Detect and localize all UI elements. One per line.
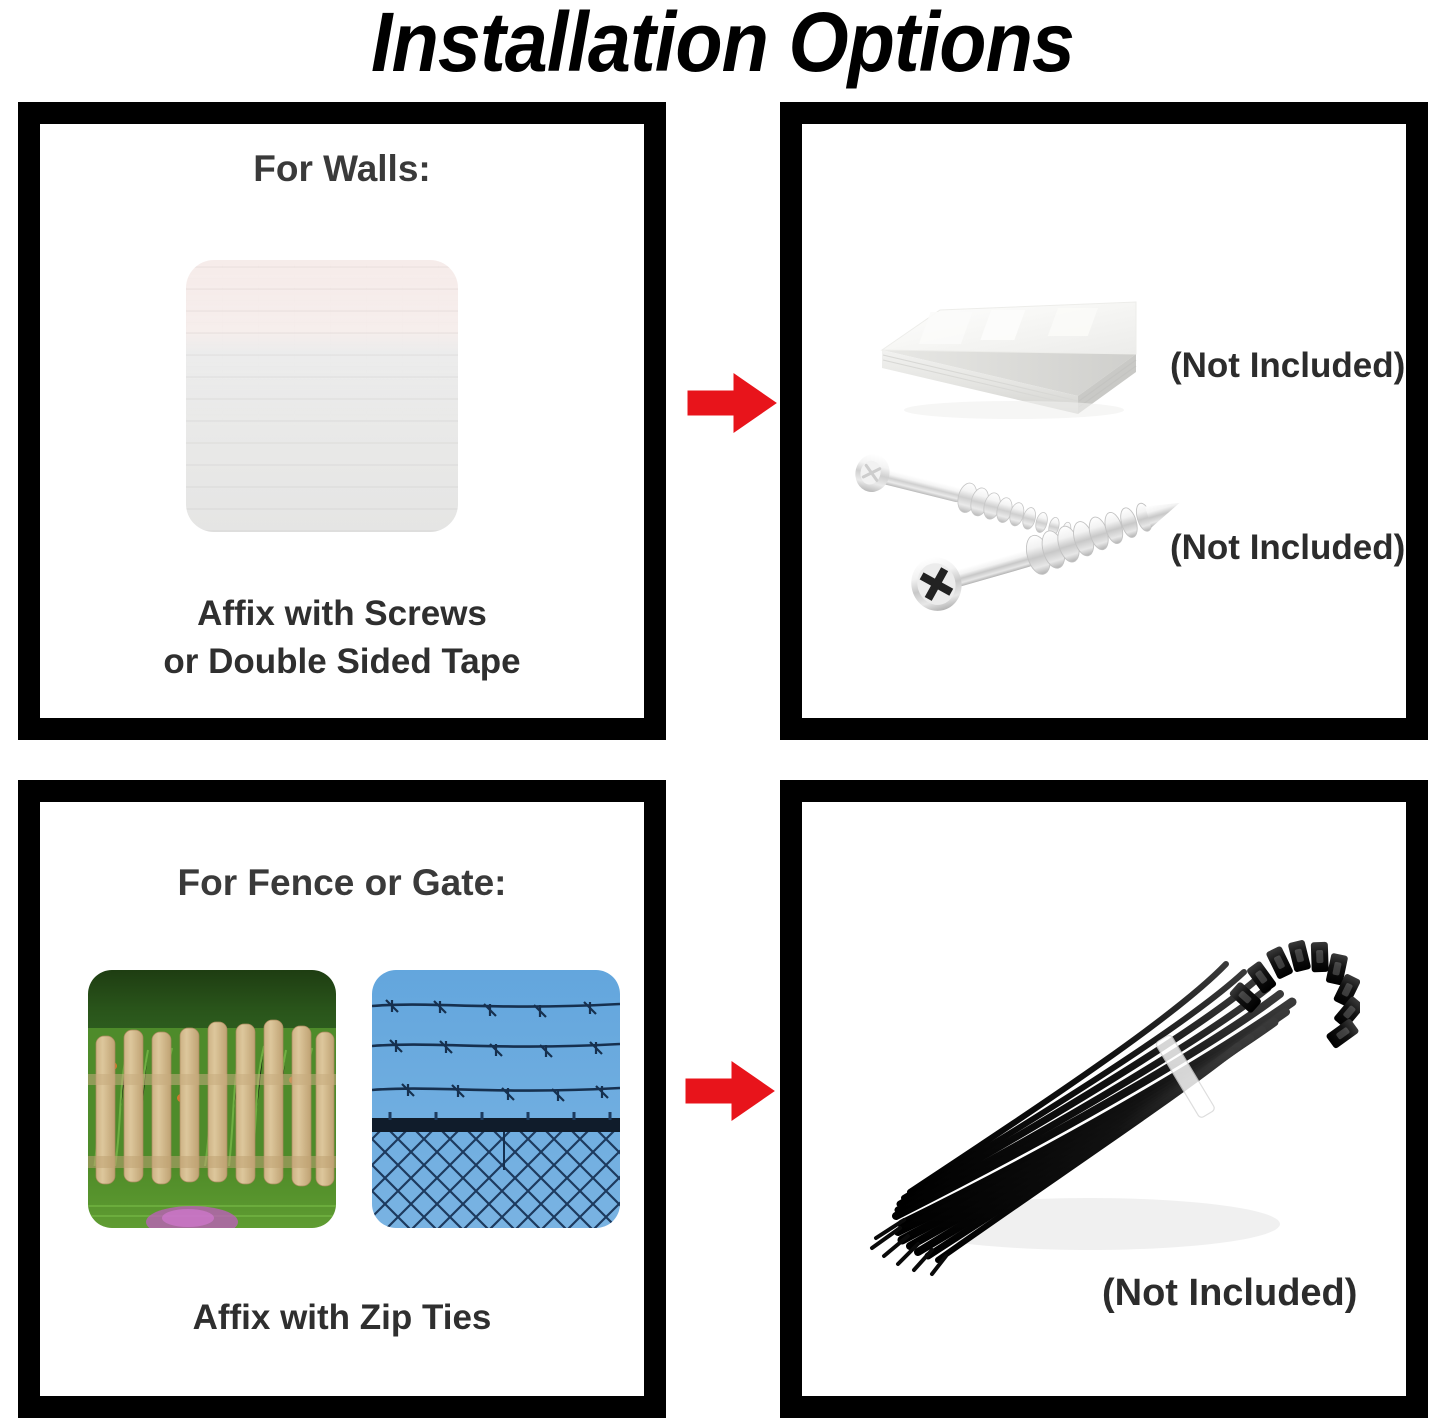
screws-not-included-label: (Not Included)	[1170, 528, 1405, 568]
white-brick-wall-swatch-icon	[186, 260, 458, 532]
panel-for-walls: For Walls: Affix with Screws or Double S…	[18, 102, 666, 740]
infographic-root: Installation Options For Walls: Affix wi…	[0, 0, 1445, 1422]
panel-zip-ties: (Not Included)	[780, 780, 1428, 1418]
panel-zip-ties-inner: (Not Included)	[802, 802, 1406, 1396]
affix-zip-ties-caption: Affix with Zip Ties	[40, 1294, 644, 1342]
tape-not-included-label: (Not Included)	[1170, 346, 1405, 386]
affix-screws-caption-line1: Affix with Screws	[40, 590, 644, 638]
panel-for-fence-or-gate: For Fence or Gate:	[18, 780, 666, 1418]
for-walls-heading: For Walls:	[40, 148, 644, 190]
for-fence-or-gate-heading: For Fence or Gate:	[40, 862, 644, 904]
double-sided-tape-stack-icon	[864, 242, 1164, 422]
chain-link-barbed-wire-fence-photo	[372, 970, 620, 1228]
red-right-arrow-icon	[686, 372, 778, 434]
black-zip-tie-bundle-icon	[840, 894, 1360, 1284]
panel-wall-hardware: (Not Included)	[780, 102, 1428, 740]
red-right-arrow-icon	[684, 1060, 776, 1122]
silver-wood-screws-icon	[820, 442, 1200, 642]
affix-screws-caption-line2: or Double Sided Tape	[40, 638, 644, 686]
wooden-picket-fence-photo	[88, 970, 336, 1228]
panel-wall-hardware-inner: (Not Included)	[802, 124, 1406, 718]
panel-for-walls-inner: For Walls: Affix with Screws or Double S…	[40, 124, 644, 718]
zip-ties-not-included-label: (Not Included)	[1102, 1272, 1357, 1315]
panel-for-fence-or-gate-inner: For Fence or Gate:	[40, 802, 644, 1396]
page-title: Installation Options	[58, 0, 1387, 88]
